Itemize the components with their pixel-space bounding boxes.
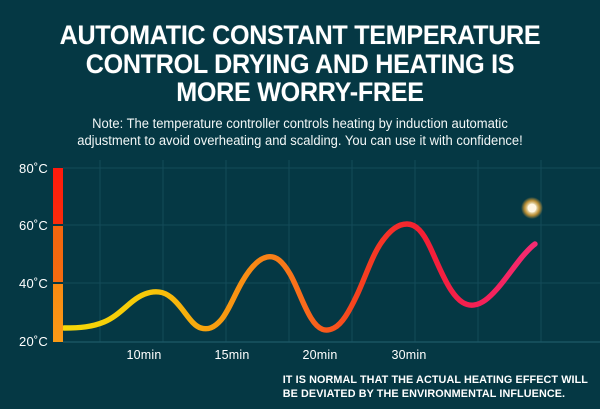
title-line-2: CONTROL DRYING AND HEATING IS [21,50,579,79]
y-tick-60: 60˚C [2,218,48,233]
x-tick-20min: 20min [285,348,355,362]
y-tick-80: 80˚C [2,161,48,176]
page-title: AUTOMATIC CONSTANT TEMPERATURE CONTROL D… [21,0,579,107]
y-tick-40: 40˚C [2,276,48,291]
x-tick-15min: 15min [197,348,267,362]
title-line-3: MORE WORRY-FREE [21,78,579,107]
chart-gridlines [63,160,600,342]
title-line-1: AUTOMATIC CONSTANT TEMPERATURE [21,21,579,50]
disclaimer-line-2: BE DEVIATED BY THE ENVIRONMENTAL INFLUEN… [283,388,588,402]
y-tick-20: 20˚C [2,334,48,349]
disclaimer-text: IT IS NORMAL THAT THE ACTUAL HEATING EFF… [283,374,588,401]
note-text: Note: The temperature controller control… [9,107,591,150]
end-point-dot [521,197,543,219]
x-tick-10min: 10min [109,348,179,362]
disclaimer-line-1: IT IS NORMAL THAT THE ACTUAL HEATING EFF… [283,374,588,388]
note-line-2: adjustment to avoid overheating and scal… [9,132,591,150]
header: AUTOMATIC CONSTANT TEMPERATURE CONTROL D… [0,0,600,150]
x-tick-30min: 30min [374,348,444,362]
note-line-1: Note: The temperature controller control… [9,115,591,133]
infographic-root: AUTOMATIC CONSTANT TEMPERATURE CONTROL D… [0,0,600,409]
chart-svg [0,160,600,360]
scale-segment-mild [53,284,63,342]
scale-segment-hot [53,168,63,224]
scale-segment-warm [53,226,63,282]
temperature-curve [64,224,535,330]
temperature-scale-bar [53,168,63,342]
temperature-chart: 80˚C 60˚C 40˚C 20˚C 10min 15min 20min 30… [0,160,600,360]
